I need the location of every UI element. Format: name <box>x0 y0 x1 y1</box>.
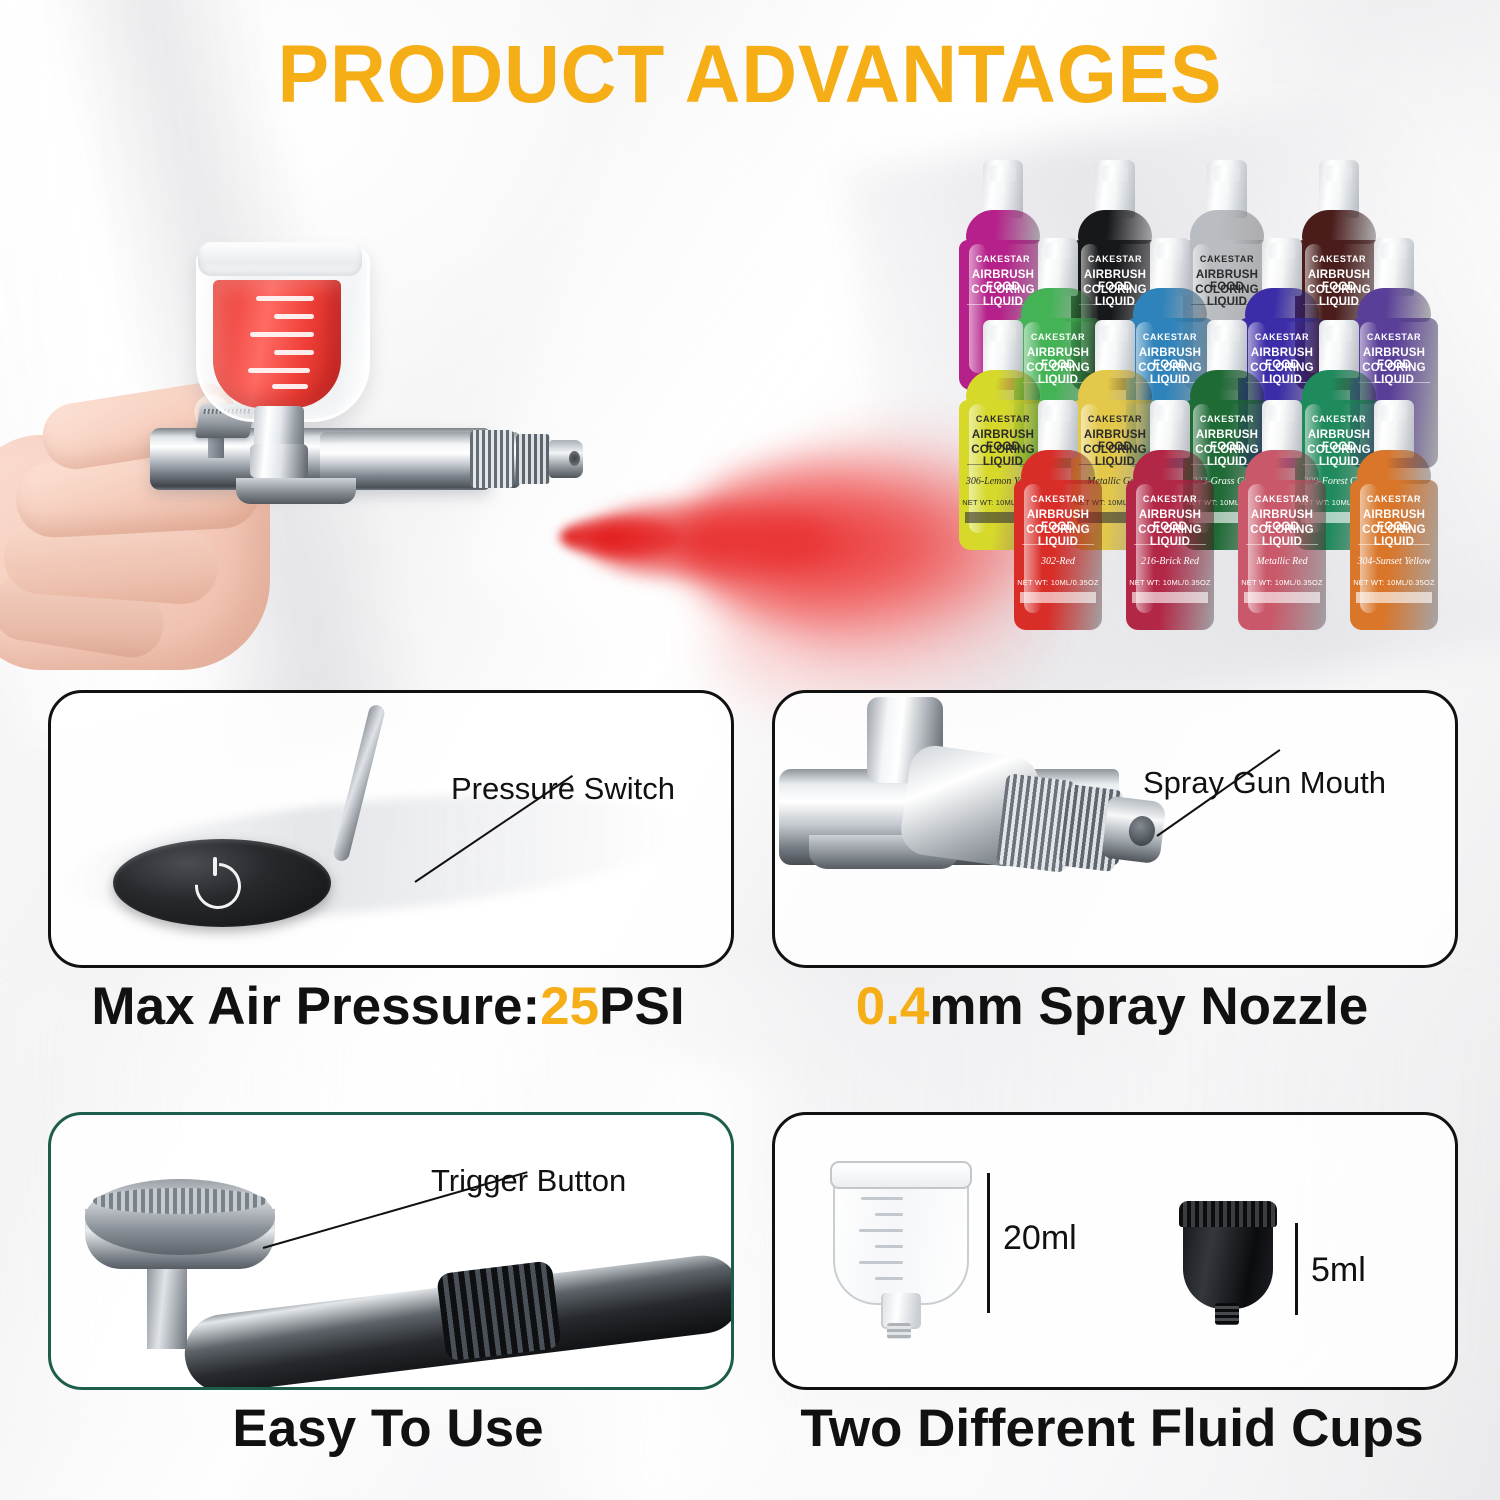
callout-label: Trigger Button <box>431 1163 626 1199</box>
bottle-brand: CAKESTAR <box>1350 494 1438 504</box>
callout-label: Spray Gun Mouth <box>1143 765 1386 801</box>
panel-frame: Spray Gun Mouth <box>772 690 1458 968</box>
caption-suffix: PSI <box>599 977 684 1036</box>
bottle-shoulder <box>1021 288 1095 322</box>
cup-lid <box>198 242 362 276</box>
panel-frame: 20ml 5ml <box>772 1112 1458 1390</box>
caption-suffix: mm Spray Nozzle <box>929 977 1368 1036</box>
panel-caption: Easy To Use <box>48 1398 728 1459</box>
bottle-shoulder <box>1133 288 1207 322</box>
cup-measure-ticks <box>855 1197 925 1283</box>
cup-small-capacity-label: 5ml <box>1311 1251 1366 1290</box>
bottle-footer-band <box>1244 592 1320 603</box>
panel-caption: 0.4mm Spray Nozzle <box>772 976 1452 1037</box>
bottle-brand: CAKESTAR <box>1295 414 1383 424</box>
trigger-button-icon <box>85 1179 275 1255</box>
bottle-divider <box>1022 544 1094 545</box>
caption-highlight: 25 <box>540 977 599 1036</box>
bottle-shoulder <box>1302 370 1376 404</box>
bottle-footer-band <box>1020 592 1096 603</box>
gun-underhandle <box>236 478 356 504</box>
cup-rim <box>830 1161 972 1189</box>
bottle-brand: CAKESTAR <box>1183 414 1271 424</box>
bottle-footer-band <box>1356 592 1432 603</box>
bottle-shoulder <box>1021 450 1095 484</box>
cup-measure-ticks <box>220 292 332 400</box>
cup-body <box>1183 1221 1273 1309</box>
bottle-shoulder <box>1302 210 1376 244</box>
bottle-shoulder <box>966 370 1040 404</box>
bottle-brand: CAKESTAR <box>959 254 1047 264</box>
bottle-shoulder <box>1078 370 1152 404</box>
bottle-body: CAKESTARAIRBRUSH FOODCOLORING LIQUID216-… <box>1126 480 1214 630</box>
bottle-brand: CAKESTAR <box>1295 254 1383 264</box>
bottle-divider <box>1358 544 1430 545</box>
bottle-body: CAKESTARAIRBRUSH FOODCOLORING LIQUID304-… <box>1350 480 1438 630</box>
knurled-collar <box>470 430 514 488</box>
bottle-brand: CAKESTAR <box>1238 332 1326 342</box>
panel-caption: Two Different Fluid Cups <box>772 1398 1452 1459</box>
bottle-variant-name: 302-Red <box>1014 556 1102 567</box>
bottle-body: CAKESTARAIRBRUSH FOODCOLORING LIQUIDMeta… <box>1238 480 1326 630</box>
bottle-shoulder <box>1357 450 1431 484</box>
bottle-net-weight: NET WT: 10ML/0.35OZ <box>1014 578 1102 587</box>
bottle-brand: CAKESTAR <box>1126 494 1214 504</box>
bottle-net-weight: NET WT: 10ML/0.35OZ <box>1238 578 1326 587</box>
feature-panel-trigger-button: Trigger Button Easy To Use <box>48 1112 728 1384</box>
bottle-variant-name: 304-Sunset Yellow <box>1350 556 1438 567</box>
bottle-footer-band <box>1132 592 1208 603</box>
product-advantages-infographic: PRODUCT ADVANTAGES <box>0 0 1500 1500</box>
feature-panel-fluid-cups: 20ml 5ml Two Different Fluid Cups <box>772 1112 1452 1384</box>
cup-large-capacity-label: 20ml <box>1003 1219 1077 1258</box>
fluid-cup-large <box>833 1151 965 1319</box>
bottle-shoulder <box>1190 370 1264 404</box>
bottle-brand: CAKESTAR <box>1350 332 1438 342</box>
cup-coupling-nut <box>250 444 308 478</box>
cup-lid <box>1179 1201 1277 1227</box>
bottle-variant-name: Metallic Red <box>1238 556 1326 567</box>
bottle-brand: CAKESTAR <box>1183 254 1271 264</box>
callout-label: Pressure Switch <box>451 771 675 807</box>
bottle-net-weight: NET WT: 10ML/0.35OZ <box>1126 578 1214 587</box>
bottle-brand: CAKESTAR <box>1014 332 1102 342</box>
bottle-shoulder <box>1245 288 1319 322</box>
cup-thread <box>887 1323 911 1339</box>
bottle-brand: CAKESTAR <box>959 414 1047 424</box>
panel-frame: Pressure Switch <box>48 690 734 968</box>
bottle-brand: CAKESTAR <box>1071 414 1159 424</box>
bottle-variant-name: 216-Brick Red <box>1126 556 1214 567</box>
paint-cup <box>196 248 364 448</box>
bottle-shoulder <box>1078 210 1152 244</box>
dimension-line <box>1295 1223 1298 1315</box>
bottle-body: CAKESTARAIRBRUSH FOODCOLORING LIQUID302-… <box>1014 480 1102 630</box>
bottle-brand: CAKESTAR <box>1071 254 1159 264</box>
feature-panel-pressure-switch: Pressure Switch Max Air Pressure:25PSI <box>48 690 728 962</box>
spray-gun-mouth-icon <box>1101 796 1166 865</box>
power-button-icon <box>113 839 331 927</box>
panel-frame: Trigger Button <box>48 1112 734 1390</box>
dimension-line <box>987 1173 990 1313</box>
panel-caption: Max Air Pressure:25PSI <box>48 976 728 1037</box>
knurled-collar <box>516 434 550 484</box>
knurled-collar <box>436 1260 562 1361</box>
caption-highlight: 0.4 <box>856 977 930 1036</box>
trigger-stem <box>147 1263 187 1349</box>
bottle-shoulder <box>1190 210 1264 244</box>
bottle-shoulder <box>1245 450 1319 484</box>
cup-thread <box>1215 1303 1239 1325</box>
bottle-brand: CAKESTAR <box>1014 494 1102 504</box>
bottle-shoulder <box>1133 450 1207 484</box>
page-title: PRODUCT ADVANTAGES <box>45 28 1455 122</box>
feature-panel-spray-nozzle: Spray Gun Mouth 0.4mm Spray Nozzle <box>772 690 1452 962</box>
coloring-bottle-cluster: CAKESTARAIRBRUSH FOODCOLORING LIQUIDCAKE… <box>955 160 1500 660</box>
bottle-brand: CAKESTAR <box>1238 494 1326 504</box>
caption-prefix: Max Air Pressure: <box>91 977 540 1036</box>
bottle-net-weight: NET WT: 10ML/0.35OZ <box>1350 578 1438 587</box>
bottle-divider <box>1134 544 1206 545</box>
bottle-divider <box>1246 544 1318 545</box>
bottle-shoulder <box>1357 288 1431 322</box>
bottle-brand: CAKESTAR <box>1126 332 1214 342</box>
fluid-cup-small <box>1179 1201 1277 1327</box>
bottle-shoulder <box>966 210 1040 244</box>
